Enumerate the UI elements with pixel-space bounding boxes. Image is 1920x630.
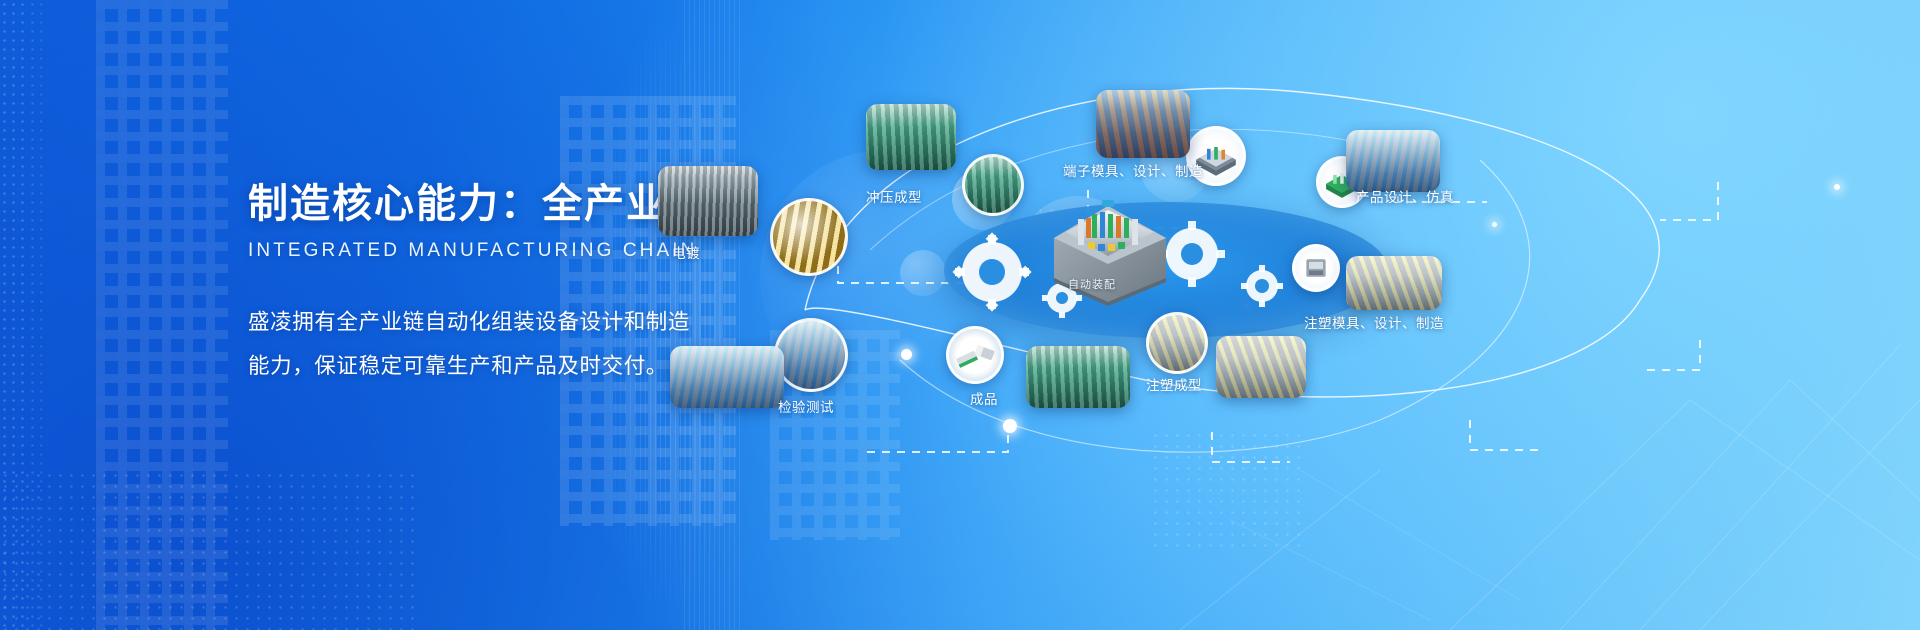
node-plating-thumb[interactable] — [658, 166, 758, 236]
node-label-stamping: 冲压成型 — [866, 186, 922, 206]
manufacturing-chain-diagram: 自动装配 电镀 冲压成型 — [780, 0, 1920, 630]
center-label: 自动装配 — [1068, 276, 1116, 292]
product-design-thumb-photo — [1346, 130, 1440, 192]
injection-mold-icon — [1295, 247, 1337, 289]
node-terminal-mold-thumb[interactable] — [1096, 90, 1190, 158]
node-label-inspection: 检验测试 — [778, 396, 834, 416]
node-product-design-thumb[interactable] — [1346, 130, 1440, 192]
node-plating-circle[interactable] — [770, 198, 848, 276]
orbit-spark-2 — [1834, 184, 1840, 190]
hero-banner: 制造核心能力：全产业链 INTEGRATED MANUFACTURING CHA… — [0, 0, 1920, 630]
injection-form-photo — [1149, 315, 1205, 371]
node-label-terminal-mold: 端子模具、设计、制造 — [1063, 160, 1203, 180]
connector-product-icon — [949, 329, 1001, 381]
stamping-photo — [965, 157, 1021, 213]
node-inspection-thumb[interactable] — [670, 346, 784, 408]
stamping-thumb-photo — [866, 104, 956, 170]
plating-thumb-photo — [658, 166, 758, 236]
node-label-injection-form: 注塑成型 — [1146, 374, 1202, 394]
plating-photo — [773, 201, 845, 273]
node-label-plating: 电镀 — [672, 242, 700, 262]
node-finished-thumb[interactable] — [1026, 346, 1130, 408]
orbit-spark-5 — [1492, 222, 1497, 227]
node-stamping-thumb[interactable] — [866, 104, 956, 170]
node-stamping-circle[interactable] — [962, 154, 1024, 216]
node-injection-form-circle[interactable] — [1146, 312, 1208, 374]
inspection-thumb-photo — [670, 346, 784, 408]
node-injection-mold-thumb[interactable] — [1346, 256, 1442, 310]
orbit-spark-1 — [901, 349, 912, 360]
node-inspection-circle[interactable] — [774, 318, 848, 392]
orbit-spark-4 — [1003, 419, 1017, 433]
node-label-finished: 成品 — [970, 388, 998, 408]
injection-mold-thumb-photo — [1346, 256, 1442, 310]
node-injection-form-thumb[interactable] — [1216, 336, 1306, 398]
node-injection-mold-circle[interactable] — [1292, 244, 1340, 292]
node-label-injection-mold: 注塑模具、设计、制造 — [1304, 312, 1444, 332]
finished-thumb-photo — [1026, 346, 1130, 408]
inspection-photo — [777, 321, 845, 389]
node-label-product-design: 产品设计、仿真 — [1356, 186, 1454, 206]
injection-form-thumb-photo — [1216, 336, 1306, 398]
terminal-mold-thumb-photo — [1096, 90, 1190, 158]
node-finished-circle[interactable] — [946, 326, 1004, 384]
